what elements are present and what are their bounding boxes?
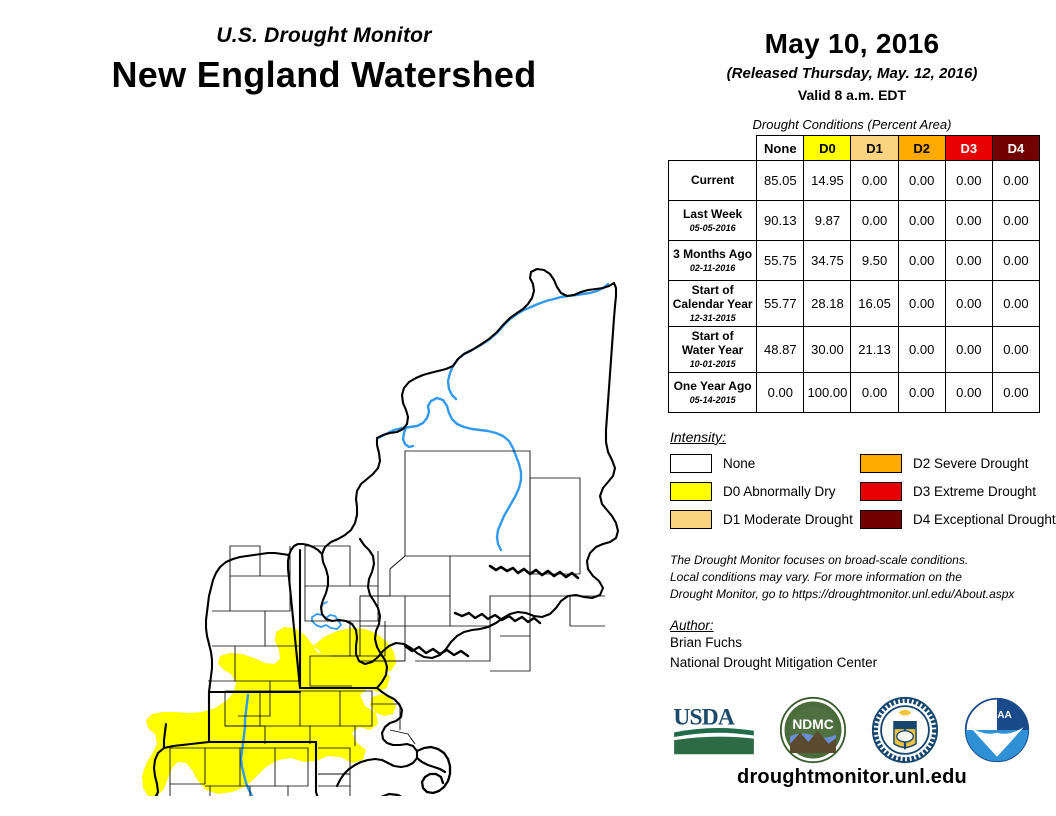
- usdc-logo: [869, 696, 941, 764]
- table-corner-cell: [669, 136, 757, 161]
- disclaimer-text: The Drought Monitor focuses on broad-sca…: [670, 552, 1050, 603]
- st-john-river: [453, 284, 608, 366]
- cell-none: 85.05: [757, 161, 804, 201]
- page-title: New England Watershed: [0, 54, 648, 96]
- row-label: Start ofWater Year10-01-2015: [669, 326, 757, 372]
- cape-cod-inner: [417, 758, 445, 772]
- cell-d3: 0.00: [945, 241, 992, 281]
- row-label: Start ofCalendar Year12-31-2015: [669, 281, 757, 327]
- svg-text:NOAA: NOAA: [982, 710, 1012, 721]
- ndmc-logo: NDMC: [777, 696, 849, 764]
- cell-d2: 0.00: [898, 281, 945, 327]
- cell-d4: 0.00: [992, 201, 1039, 241]
- stats-table-wrap: None D0 D1 D2 D3 D4 Current85.0514.950.0…: [668, 135, 1040, 413]
- legend-item: None: [670, 452, 860, 476]
- legend-item: D4 Exceptional Drought: [860, 508, 1050, 532]
- cell-none: 48.87: [757, 326, 804, 372]
- col-header-d3: D3: [945, 136, 992, 161]
- row-sublabel: 10-01-2015: [671, 359, 754, 369]
- cell-d3: 0.00: [945, 161, 992, 201]
- cell-d1: 0.00: [851, 372, 898, 412]
- info-panel: May 10, 2016 (Released Thursday, May. 12…: [648, 0, 1056, 816]
- cell-d4: 0.00: [992, 372, 1039, 412]
- legend-label: D2 Severe Drought: [913, 456, 1029, 471]
- legend-item: D0 Abnormally Dry: [670, 480, 860, 504]
- cell-d0: 9.87: [804, 201, 851, 241]
- legend-swatch: [670, 454, 712, 473]
- row-sublabel: 05-05-2016: [671, 223, 754, 233]
- legend-label: D4 Exceptional Drought: [913, 512, 1056, 527]
- valid-date: May 10, 2016: [648, 28, 1056, 60]
- disclaimer-line-2: Local conditions may vary. For more info…: [670, 569, 1050, 586]
- cell-d4: 0.00: [992, 161, 1039, 201]
- title-block: U.S. Drought Monitor New England Watersh…: [0, 24, 648, 96]
- row-label: Last Week05-05-2016: [669, 201, 757, 241]
- legend-title: Intensity:: [670, 429, 1050, 445]
- release-date: (Released Thursday, May. 12, 2016): [648, 65, 1056, 82]
- valid-time: Valid 8 a.m. EDT: [648, 87, 1056, 103]
- cell-d2: 0.00: [898, 241, 945, 281]
- cell-d4: 0.00: [992, 281, 1039, 327]
- author-block: Author: Brian Fuchs National Drought Mit…: [670, 618, 1050, 672]
- legend-label: None: [723, 456, 755, 471]
- cell-d2: 0.00: [898, 201, 945, 241]
- row-label: Current: [669, 161, 757, 201]
- drought-conditions-table: None D0 D1 D2 D3 D4 Current85.0514.950.0…: [668, 135, 1040, 413]
- legend-column-right: D2 Severe DroughtD3 Extreme DroughtD4 Ex…: [860, 452, 1050, 536]
- col-header-none: None: [757, 136, 804, 161]
- col-header-d4: D4: [992, 136, 1039, 161]
- row-sublabel: 02-11-2016: [671, 263, 754, 273]
- table-header-row: None D0 D1 D2 D3 D4: [669, 136, 1040, 161]
- row-sublabel: 05-14-2015: [671, 395, 754, 405]
- legend-label: D3 Extreme Drought: [913, 484, 1036, 499]
- legend-swatch: [860, 482, 902, 501]
- author-label: Author:: [670, 618, 1050, 633]
- table-row: Current85.0514.950.000.000.000.00: [669, 161, 1040, 201]
- disclaimer-line-3: Drought Monitor, go to https://droughtmo…: [670, 586, 1050, 603]
- cell-none: 55.75: [757, 241, 804, 281]
- map-svg[interactable]: [60, 126, 620, 796]
- cell-d1: 21.13: [851, 326, 898, 372]
- legend-item: D1 Moderate Drought: [670, 508, 860, 532]
- penobscot-tributary: [403, 427, 413, 447]
- cell-d3: 0.00: [945, 201, 992, 241]
- table-row: One Year Ago05-14-20150.00100.000.000.00…: [669, 372, 1040, 412]
- col-header-d0: D0: [804, 136, 851, 161]
- cell-d1: 0.00: [851, 201, 898, 241]
- col-header-d1: D1: [851, 136, 898, 161]
- disclaimer-line-1: The Drought Monitor focuses on broad-sca…: [670, 552, 1050, 569]
- cell-d3: 0.00: [945, 372, 992, 412]
- table-caption: Drought Conditions (Percent Area): [648, 117, 1056, 132]
- page-supertitle: U.S. Drought Monitor: [0, 24, 648, 48]
- table-row: Last Week05-05-201690.139.870.000.000.00…: [669, 201, 1040, 241]
- cell-d2: 0.00: [898, 326, 945, 372]
- cape-cod: [417, 747, 450, 793]
- cell-d0: 30.00: [804, 326, 851, 372]
- cell-none: 0.00: [757, 372, 804, 412]
- cell-none: 90.13: [757, 201, 804, 241]
- cell-d3: 0.00: [945, 281, 992, 327]
- author-affiliation: National Drought Mitigation Center: [670, 653, 1050, 673]
- cell-d0: 100.00: [804, 372, 851, 412]
- date-block: May 10, 2016 (Released Thursday, May. 12…: [648, 0, 1056, 103]
- marthas-vineyard: [380, 794, 407, 796]
- table-row: 3 Months Ago02-11-201655.7534.759.500.00…: [669, 241, 1040, 281]
- cell-d0: 34.75: [804, 241, 851, 281]
- partner-logos: USDA NDMC: [648, 690, 1056, 770]
- table-header: None D0 D1 D2 D3 D4: [669, 136, 1040, 161]
- legend-column-left: NoneD0 Abnormally DryD1 Moderate Drought: [670, 452, 860, 536]
- usda-logo: USDA: [671, 701, 757, 759]
- cell-d2: 0.00: [898, 161, 945, 201]
- intensity-legend: Intensity: NoneD0 Abnormally DryD1 Moder…: [670, 429, 1050, 536]
- cell-d3: 0.00: [945, 326, 992, 372]
- lake-winnipesaukee: [312, 614, 341, 629]
- legend-swatch: [860, 510, 902, 529]
- table-row: Start ofWater Year10-01-201548.8730.0021…: [669, 326, 1040, 372]
- cell-d0: 28.18: [804, 281, 851, 327]
- noaa-logo: NOAA: [961, 696, 1033, 764]
- site-url[interactable]: droughtmonitor.unl.edu: [648, 766, 1056, 789]
- map-panel: U.S. Drought Monitor New England Watersh…: [0, 0, 648, 816]
- author-name: Brian Fuchs: [670, 633, 1050, 653]
- row-label: 3 Months Ago02-11-2016: [669, 241, 757, 281]
- cell-d1: 0.00: [851, 161, 898, 201]
- drought-map[interactable]: [60, 126, 620, 796]
- svg-text:USDA: USDA: [673, 705, 735, 731]
- legend-label: D1 Moderate Drought: [723, 512, 853, 527]
- st-john-river-lower: [448, 366, 456, 399]
- maine-coastline-detail: [490, 566, 578, 578]
- penobscot-watershed: [378, 398, 521, 550]
- cell-d4: 0.00: [992, 326, 1039, 372]
- cell-d4: 0.00: [992, 241, 1039, 281]
- cell-d1: 9.50: [851, 241, 898, 281]
- row-label: One Year Ago05-14-2015: [669, 372, 757, 412]
- legend-swatch: [670, 510, 712, 529]
- legend-item: D3 Extreme Drought: [860, 480, 1050, 504]
- legend-grid: NoneD0 Abnormally DryD1 Moderate Drought…: [670, 452, 1050, 536]
- legend-swatch: [670, 482, 712, 501]
- cell-none: 55.77: [757, 281, 804, 327]
- d0-drought-areas: [142, 627, 396, 796]
- maine-outline: [321, 269, 618, 664]
- legend-swatch: [860, 454, 902, 473]
- table-body: Current85.0514.950.000.000.000.00Last We…: [669, 161, 1040, 413]
- cell-d0: 14.95: [804, 161, 851, 201]
- legend-item: D2 Severe Drought: [860, 452, 1050, 476]
- cell-d1: 16.05: [851, 281, 898, 327]
- legend-label: D0 Abnormally Dry: [723, 484, 836, 499]
- table-row: Start ofCalendar Year12-31-201555.7728.1…: [669, 281, 1040, 327]
- row-sublabel: 12-31-2015: [671, 313, 754, 323]
- cell-d2: 0.00: [898, 372, 945, 412]
- svg-text:NDMC: NDMC: [792, 717, 833, 732]
- col-header-d2: D2: [898, 136, 945, 161]
